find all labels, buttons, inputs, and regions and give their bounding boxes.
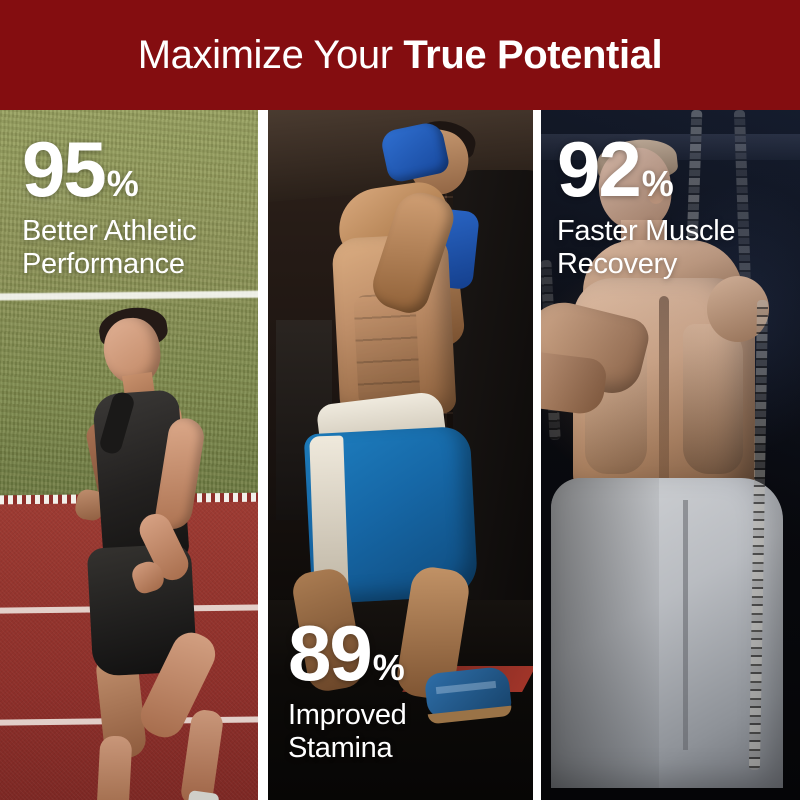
stat-label-line2: Performance xyxy=(22,248,196,282)
panel-grid: 95 % Better Athletic Performance xyxy=(0,110,800,800)
page-title-regular: Maximize Your xyxy=(138,33,404,77)
stat-value: 89 xyxy=(288,618,371,690)
page-title-bold: True Potential xyxy=(403,33,662,77)
stat-label: Improved Stamina xyxy=(288,699,407,766)
panel-athletic-performance[interactable]: 95 % Better Athletic Performance xyxy=(0,110,258,800)
page-title: Maximize Your True Potential xyxy=(138,35,663,75)
stat-label-line1: Better Athletic xyxy=(22,215,196,249)
panel-muscle-recovery[interactable]: 92 % Faster Muscle Recovery xyxy=(541,110,800,800)
stat-label-line2: Recovery xyxy=(557,248,735,282)
stat-label: Faster Muscle Recovery xyxy=(557,215,735,282)
stat-label: Better Athletic Performance xyxy=(22,215,196,282)
panel-improved-stamina[interactable]: 89 % Improved Stamina xyxy=(268,110,533,800)
stat-unit: % xyxy=(642,167,673,200)
runner-back-shin xyxy=(96,735,133,800)
stat-number-row: 95 % xyxy=(22,134,196,206)
stat-block-improved-stamina: 89 % Improved Stamina xyxy=(288,618,407,766)
runner-figure xyxy=(36,300,246,800)
stat-label-line1: Improved xyxy=(288,699,407,733)
stat-unit: % xyxy=(373,651,404,684)
panel-divider xyxy=(533,110,541,800)
stat-value: 95 xyxy=(22,134,105,206)
runner-front-sock xyxy=(186,790,219,800)
stat-label-line2: Stamina xyxy=(288,732,407,766)
stat-label-line1: Faster Muscle xyxy=(557,215,735,249)
stat-number-row: 89 % xyxy=(288,618,407,690)
stat-block-athletic-performance: 95 % Better Athletic Performance xyxy=(22,134,196,282)
poster-root: Maximize Your True Potential xyxy=(0,0,800,800)
stat-value: 92 xyxy=(557,134,640,206)
stat-number-row: 92 % xyxy=(557,134,735,206)
header-banner: Maximize Your True Potential xyxy=(0,0,800,110)
turf-marking-line xyxy=(0,290,258,300)
panel-divider xyxy=(258,110,268,800)
stat-unit: % xyxy=(107,167,138,200)
stat-block-muscle-recovery: 92 % Faster Muscle Recovery xyxy=(557,134,735,282)
runner-front-shin xyxy=(179,708,224,800)
